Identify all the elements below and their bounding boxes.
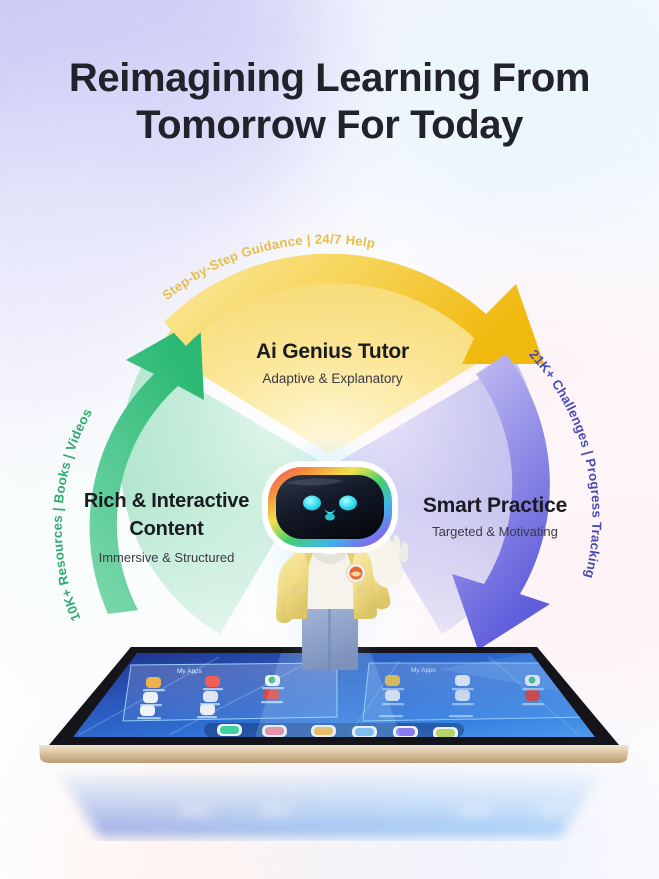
tablet-reflection xyxy=(30,763,630,841)
mascot-badge xyxy=(346,564,365,583)
mascot-helmet xyxy=(262,461,398,553)
dock-icon-1 xyxy=(220,726,239,734)
dock-icon-6 xyxy=(436,729,455,737)
mascot-eye-left xyxy=(303,496,321,511)
tablet-panel-title-left: My Apps xyxy=(177,668,203,675)
page-title-line-2: Tomorrow For Today xyxy=(26,102,633,149)
page-title-line-1: Reimagining Learning From xyxy=(69,56,590,100)
ai-robot-mascot xyxy=(244,455,416,670)
cycle-node-tutor-title: Ai Genius Tutor xyxy=(188,340,478,364)
mascot-jeans xyxy=(302,605,358,670)
tablet-bezel-front xyxy=(39,745,629,763)
page-title: Reimagining Learning From Tomorrow For T… xyxy=(0,55,659,149)
cycle-node-tutor: Ai Genius Tutor Adaptive & Explanatory xyxy=(188,340,478,386)
cycle-node-tutor-subtitle: Adaptive & Explanatory xyxy=(188,371,478,386)
mascot-eye-right xyxy=(339,496,357,511)
mascot-visor xyxy=(276,475,384,539)
